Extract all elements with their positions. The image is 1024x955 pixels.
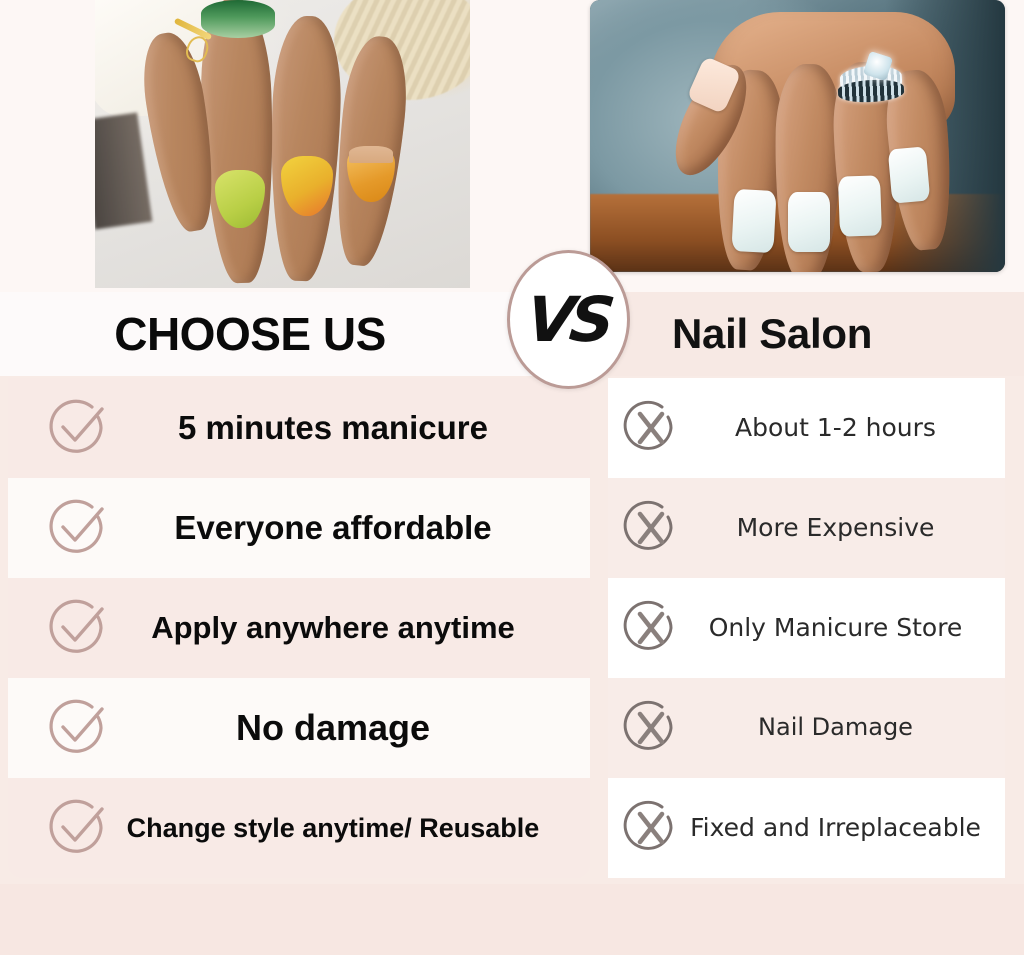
vs-badge: VS — [507, 250, 630, 389]
row-label-left: No damage — [110, 709, 590, 747]
x-circle-icon — [622, 399, 680, 457]
table-row: Change style anytime/ Reusable — [8, 778, 590, 878]
row-label-left: Apply anywhere anytime — [110, 612, 590, 645]
table-row: 5 minutes manicure — [8, 378, 590, 478]
row-label-left: 5 minutes manicure — [110, 411, 590, 446]
check-circle-icon — [48, 397, 110, 459]
check-circle-icon — [48, 797, 110, 859]
comparison-infographic: CHOOSE US Nail Salon VS 5 minutes manicu… — [0, 0, 1024, 955]
check-circle-icon — [48, 697, 110, 759]
x-circle-icon — [622, 799, 680, 857]
table-row: Nail Damage — [608, 678, 1005, 778]
photo-choose-us — [95, 0, 470, 288]
row-label-right: Nail Damage — [680, 715, 1005, 740]
choose-us-title: CHOOSE US — [114, 307, 386, 361]
table-row: No damage — [8, 678, 590, 778]
header-left: CHOOSE US — [0, 292, 590, 376]
row-label-right: More Expensive — [680, 515, 1005, 541]
x-circle-icon — [622, 699, 680, 757]
column-choose-us: 5 minutes manicure Everyone affordable — [8, 378, 590, 878]
vs-label: VS — [523, 283, 613, 356]
photo-nail-salon — [590, 0, 1005, 272]
comparison-table: 5 minutes manicure Everyone affordable — [0, 378, 1024, 878]
row-label-right: Only Manicure Store — [680, 615, 1005, 641]
nail-salon-title: Nail Salon — [672, 310, 872, 358]
table-row: About 1-2 hours — [608, 378, 1005, 478]
table-row: Only Manicure Store — [608, 578, 1005, 678]
table-row: Everyone affordable — [8, 478, 590, 578]
footer-strip — [0, 884, 1024, 955]
photo-band — [0, 0, 1024, 292]
row-label-right: About 1-2 hours — [680, 415, 1005, 441]
check-circle-icon — [48, 497, 110, 559]
table-row: More Expensive — [608, 478, 1005, 578]
x-circle-icon — [622, 599, 680, 657]
table-row: Fixed and Irreplaceable — [608, 778, 1005, 878]
row-label-left: Change style anytime/ Reusable — [110, 814, 590, 842]
row-label-left: Everyone affordable — [110, 511, 590, 546]
header-right: Nail Salon — [600, 292, 1024, 376]
column-nail-salon: About 1-2 hours More Expensive — [608, 378, 1005, 878]
x-circle-icon — [622, 499, 680, 557]
row-label-right: Fixed and Irreplaceable — [680, 815, 1005, 841]
table-row: Apply anywhere anytime — [8, 578, 590, 678]
check-circle-icon — [48, 597, 110, 659]
